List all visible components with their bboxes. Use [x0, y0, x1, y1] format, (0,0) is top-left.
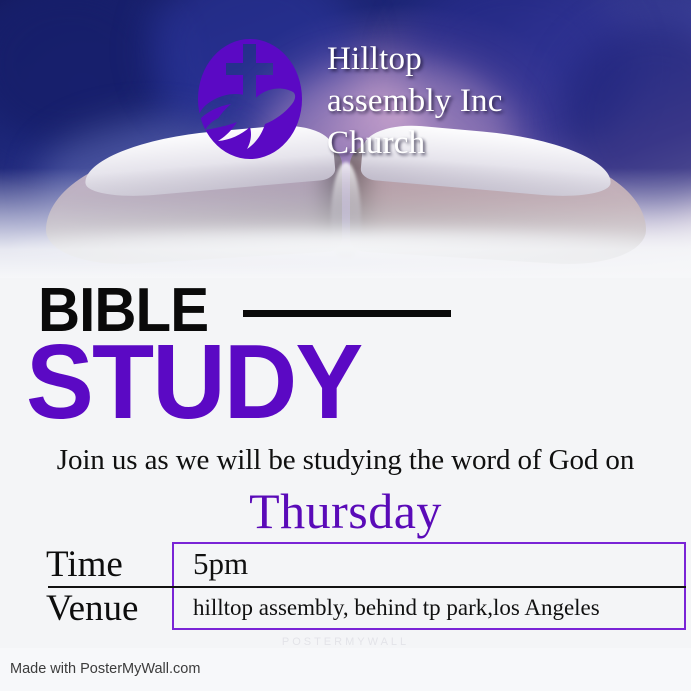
table-row: Venue hilltop assembly, behind tp park,l…	[46, 586, 686, 630]
headline-study: STUDY	[26, 332, 361, 433]
event-details-table: Time 5pm Venue hilltop assembly, behind …	[46, 542, 686, 630]
event-day: Thursday	[0, 482, 691, 540]
event-tagline: Join us as we will be studying the word …	[0, 444, 691, 477]
postermywall-watermark: POSTERMYWALL	[0, 636, 691, 648]
cross-dove-circle-icon	[196, 36, 305, 162]
church-name-line-3: Church	[327, 122, 503, 164]
bible-table-glow	[16, 226, 676, 266]
table-row: Time 5pm	[46, 542, 686, 586]
detail-label-venue: Venue	[46, 590, 178, 627]
detail-label-time: Time	[46, 546, 178, 583]
church-name-line-2: assembly Inc	[327, 80, 503, 122]
poster-canvas: Hilltop assembly Inc Church BIBLE STUDY …	[0, 0, 691, 691]
church-name: Hilltop assembly Inc Church	[327, 36, 503, 165]
detail-value-time: 5pm	[178, 546, 686, 582]
footer-credit: Made with PosterMyWall.com	[10, 661, 200, 677]
bokeh-blob	[0, 0, 170, 150]
headline-divider-rule	[243, 310, 451, 317]
church-name-line-1: Hilltop	[327, 38, 503, 80]
brand-block: Hilltop assembly Inc Church	[196, 36, 503, 165]
detail-value-venue: hilltop assembly, behind tp park,los Ang…	[178, 595, 686, 621]
